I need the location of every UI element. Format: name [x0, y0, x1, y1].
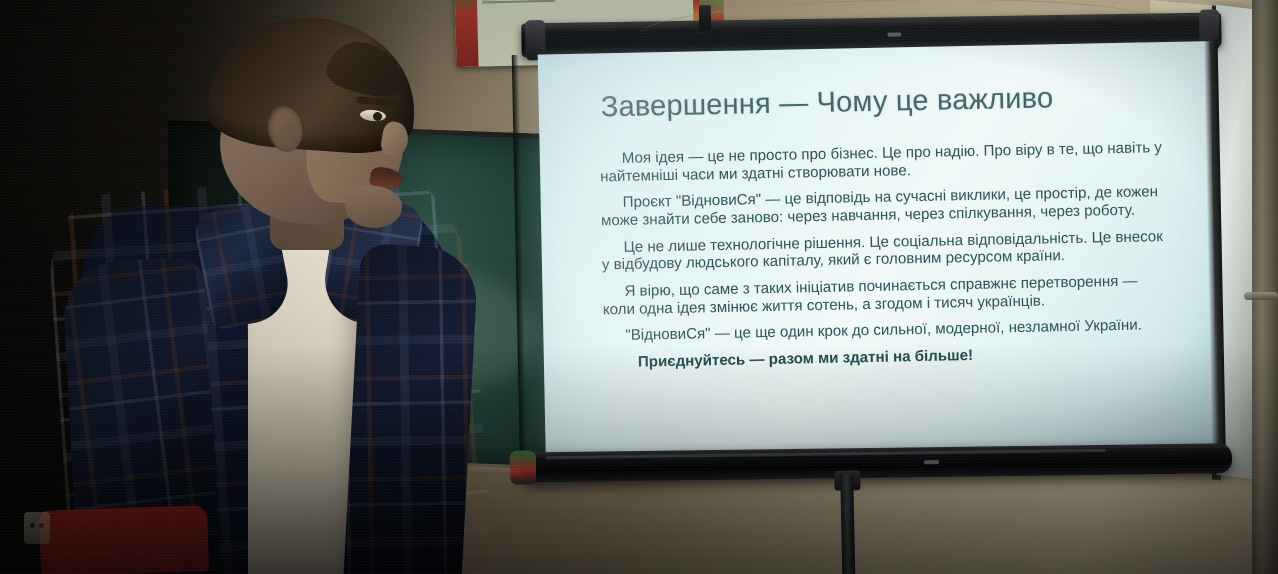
- slide-body: Моя ідея — це не просто про бізнес. Це п…: [600, 139, 1172, 372]
- slide-paragraph: "ВідновиСя" — це ще один крок до сильної…: [603, 316, 1171, 345]
- slide-paragraph: Це не лише технологічне рішення. Це соці…: [601, 228, 1170, 275]
- screen-hanging-hook: [699, 5, 712, 31]
- slide-paragraph: Я вірю, що саме з таких ініціатив почина…: [602, 272, 1171, 319]
- poster-text-lines-left: [481, 0, 580, 4]
- slide-paragraph: Проєкт "ВідновиСя" — це відповідь на суч…: [601, 183, 1170, 230]
- screen-case-label: [887, 32, 901, 36]
- slide-paragraph: Моя ідея — це не просто про бізнес. Це п…: [600, 139, 1169, 186]
- door-handle[interactable]: [1244, 292, 1278, 300]
- presenter-pupil: [373, 112, 382, 121]
- slide-title: Завершення — Чому це важливо: [600, 80, 1177, 125]
- room-shadow-bottom: [0, 344, 1278, 574]
- classroom-presentation-scene: ДЕРЖАВНИЙ АКТ СУВЕРЕНІТЕТУ УКРАЇНИ: [0, 0, 1278, 574]
